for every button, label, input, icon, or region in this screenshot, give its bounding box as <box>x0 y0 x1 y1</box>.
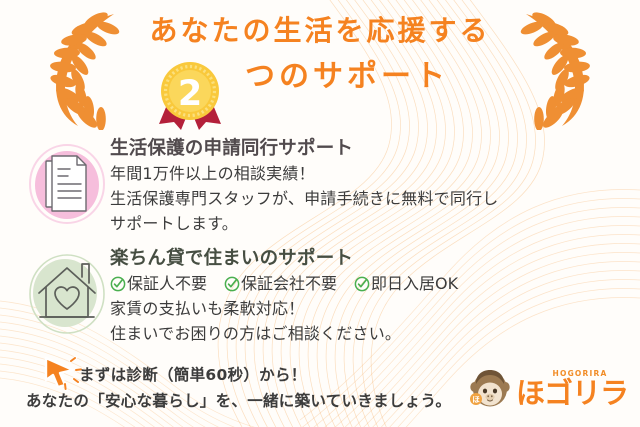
feature-line: 生活保護専門スタッフが、申請手続きに無料で同行し <box>110 186 636 211</box>
svg-text:ほ: ほ <box>472 395 480 404</box>
medal-badge-icon: 2 <box>157 60 223 130</box>
check-label: 保証人不要 <box>127 271 207 296</box>
medal-number: 2 <box>178 74 202 114</box>
gorilla-mascot-icon: ほ <box>467 365 513 411</box>
promo-banner: あなたの生活を応援する つのサポート 2 <box>0 0 640 427</box>
brand-kana: ほゴリラ <box>516 378 628 408</box>
check-circle-icon <box>110 276 126 292</box>
check-label: 即日入居OK <box>371 271 458 296</box>
feature-welfare-support: 生活保護の申請同行サポート 年間1万件以上の相談実績！ 生活保護専門スタッフが、… <box>24 136 636 236</box>
feature-check-list: 保証人不要 保証会社不要 即日入居OK <box>110 271 636 296</box>
feature-line: サポートします。 <box>110 211 636 236</box>
feature-title: 生活保護の申請同行サポート <box>110 137 636 161</box>
footer-line-2: あなたの「安心な暮らし」を、一緒に築いていきましょう。 <box>26 390 451 412</box>
feature-housing-support: 楽ちん貸で住まいのサポート 保証人不要 保証会社不要 <box>24 246 636 346</box>
feature-text-block: 生活保護の申請同行サポート 年間1万件以上の相談実績！ 生活保護専門スタッフが、… <box>110 136 636 236</box>
check-list-item: 保証会社不要 <box>224 271 337 296</box>
check-list-item: 保証人不要 <box>110 271 207 296</box>
check-circle-icon <box>354 276 370 292</box>
headline-line-2: つのサポート <box>0 58 640 96</box>
footer-cta: まずは診断（簡単60秒）から！ あなたの「安心な暮らし」を、一緒に築いていきまし… <box>0 356 640 427</box>
footer-line-1: まずは診断（簡単60秒）から！ <box>79 364 307 386</box>
feature-title: 楽ちん貸で住まいのサポート <box>110 247 636 271</box>
click-cursor-icon <box>43 356 83 392</box>
feature-text-block: 楽ちん貸で住まいのサポート 保証人不要 保証会社不要 <box>110 246 636 346</box>
check-list-item: 即日入居OK <box>354 271 458 296</box>
feature-line: 年間1万件以上の相談実績！ <box>110 161 636 186</box>
check-circle-icon <box>224 276 240 292</box>
headline-line-1: あなたの生活を応援する <box>0 14 640 48</box>
brand-wordmark: HOGORIRA ほゴリラ <box>516 369 628 408</box>
documents-icon <box>24 136 110 232</box>
feature-line: 家賃の支払いも柔軟対応！ <box>110 296 636 321</box>
feature-line: 住まいでお困りの方はご相談ください。 <box>110 321 636 346</box>
headline-block: あなたの生活を応援する つのサポート <box>0 14 640 96</box>
house-heart-icon <box>24 246 110 342</box>
brand-logo: ほ HOGORIRA ほゴリラ <box>467 362 628 414</box>
check-label: 保証会社不要 <box>241 271 337 296</box>
